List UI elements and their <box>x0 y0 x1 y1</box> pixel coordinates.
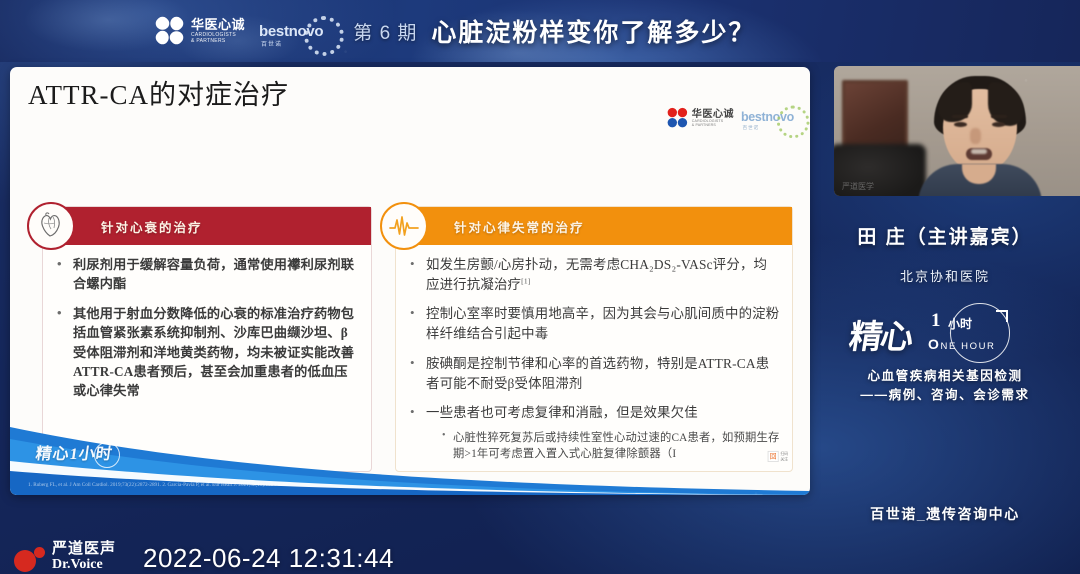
clover-cross-icon <box>155 16 185 46</box>
bullet-text: 如发生房颤/心房扑动，无需考虑CHA₂DS₂-VASc评分，均应进行抗凝治疗 <box>426 257 767 292</box>
brand-circle-icon <box>950 303 1010 363</box>
bullet-item: 胺碘酮是控制节律和心率的首选药物，特别是ATTR-CA患者可能不耐受β受体阻滞剂 <box>406 354 780 393</box>
slide-bestnovo-sub: 百世诺 <box>743 123 759 130</box>
clover-cross-icon <box>668 108 688 128</box>
ecg-waveform-icon <box>380 202 428 250</box>
bullet-item: 一些患者也可考虑复律和消融，但是效果欠佳 心脏性猝死复苏后或持续性室性心动过速的… <box>406 403 780 462</box>
drvoice-logo-en: Dr.Voice <box>52 557 116 572</box>
sub-bullet-item: 心脏性猝死复苏后或持续性室性心动过速的CA患者，如预期生存期>1年可考虑置入置入… <box>440 430 780 462</box>
bullet-text: 一些患者也可考虑复律和消融，但是效果欠佳 <box>426 405 698 420</box>
banner-partner-logo: bestnovo 百世诺 <box>259 23 323 40</box>
brand-number: 1 <box>931 310 941 332</box>
panel-heart-failure: 针对心衰的治疗 利尿剂用于缓解容量负荷，通常使用襻利尿剂联合螺内酯 其他用于射血… <box>42 206 372 472</box>
bullet-item: 控制心室率时要慎用地高辛，因为其会与心肌间质中的淀粉样纤维结合引起中毒 <box>406 304 780 343</box>
panel-arrhythmia: 针对心律失常的治疗 如发生房颤/心房扑动，无需考虑CHA₂DS₂-VASc评分，… <box>395 206 793 472</box>
speaker-name: 田 庄（主讲嘉宾） <box>810 222 1080 249</box>
org-logo-cn: 华医心诚 <box>191 18 245 32</box>
promo-line-2: ——病例、咨询、会诊需求 <box>810 384 1080 403</box>
stream-footer: 严道医声 Dr.Voice 2022-06-24 12:31:44 <box>0 502 810 574</box>
bullet-item: 利尿剂用于缓解容量负荷，通常使用襻利尿剂联合螺内酯 <box>53 255 359 294</box>
panel-heart-failure-body: 利尿剂用于缓解容量负荷，通常使用襻利尿剂联合螺内酯 其他用于射血分数降低的心衰的… <box>43 245 371 471</box>
panel-heart-failure-header-label: 针对心衰的治疗 <box>101 217 203 236</box>
panel-arrhythmia-header: 针对心律失常的治疗 <box>396 207 792 245</box>
panel-arrhythmia-body: 如发生房颤/心房扑动，无需考虑CHA₂DS₂-VASc评分，均应进行抗凝治疗[1… <box>396 245 792 471</box>
dotted-ring-icon <box>777 106 810 139</box>
promo-line-1: 心血管疾病相关基因检测 <box>810 365 1080 384</box>
brand-corner-tick-v <box>1006 310 1008 322</box>
panel-arrhythmia-header-label: 针对心律失常的治疗 <box>454 217 585 236</box>
brand-en-initial: O <box>928 336 941 352</box>
banner-org-logo: 华医心诚 CARDIOLOGISTS & PARTNERS <box>155 16 245 46</box>
slide-corner-logos: 华医心诚 CARDIOLOGISTS & PARTNERS bestnovo 百… <box>668 108 794 128</box>
org-logo-en2: & PARTNERS <box>191 39 245 44</box>
bullet-item: 如发生房颤/心房扑动，无需考虑CHA₂DS₂-VASc评分，均应进行抗凝治疗[1… <box>406 255 780 294</box>
stream-timestamp: 2022-06-24 12:31:44 <box>143 543 394 574</box>
bullet-item: 其他用于射血分数降低的心衰的标准治疗药物包括血管紧张素系统抑制剂、沙库巴曲缬沙坦… <box>53 304 359 401</box>
program-title: 心脏淀粉样变你了解多少？ <box>431 13 755 49</box>
partner-logo-sub: 百世诺 <box>261 39 282 48</box>
video-watermark: 严道医学 <box>842 181 874 192</box>
panel-heart-failure-header: 针对心衰的治疗 <box>43 207 371 245</box>
dotted-ring-icon <box>304 16 344 56</box>
drvoice-dots-icon <box>14 538 48 572</box>
citation-marker: [1] <box>521 276 530 285</box>
speaker-figure <box>912 76 1048 196</box>
webinar-stage: 华医心诚 CARDIOLOGISTS & PARTNERS bestnovo 百… <box>0 0 1080 574</box>
slide-title: ATTR-CA的对症治疗 <box>28 73 289 112</box>
speaker-sidebar: 严道医学 田 庄（主讲嘉宾） 北京协和医院 精心 1 小时 ONE HOUR 心… <box>810 0 1080 574</box>
qr-caption: 百世诺_遗传咨询中心 <box>810 504 1080 524</box>
heart-anatomy-icon <box>27 202 75 250</box>
drvoice-logo-cn: 严道医声 <box>52 541 116 557</box>
presentation-slide[interactable]: ATTR-CA的对症治疗 华医心诚 CARDIOLOGISTS & PARTNE… <box>10 67 810 495</box>
speaker-organization: 北京协和医院 <box>810 266 1080 285</box>
speaker-video-tile[interactable]: 严道医学 <box>834 66 1080 196</box>
slide-references: 1. Ruberg FL, et al. J Am Coll Cardiol. … <box>28 481 289 490</box>
slide-hyxc-logo: 华医心诚 CARDIOLOGISTS & PARTNERS <box>668 108 734 128</box>
brand-cn-label: 精心 <box>846 310 916 358</box>
slide-logo-en2: & PARTNERS <box>692 123 734 127</box>
drvoice-logo: 严道医声 Dr.Voice <box>14 538 116 572</box>
slide-bestnovo-logo: bestnovo 百世诺 <box>741 111 794 125</box>
issue-label: 第 6 期 <box>353 18 417 45</box>
sidebar-brand-logo: 精心 1 小时 ONE HOUR <box>810 306 1080 368</box>
